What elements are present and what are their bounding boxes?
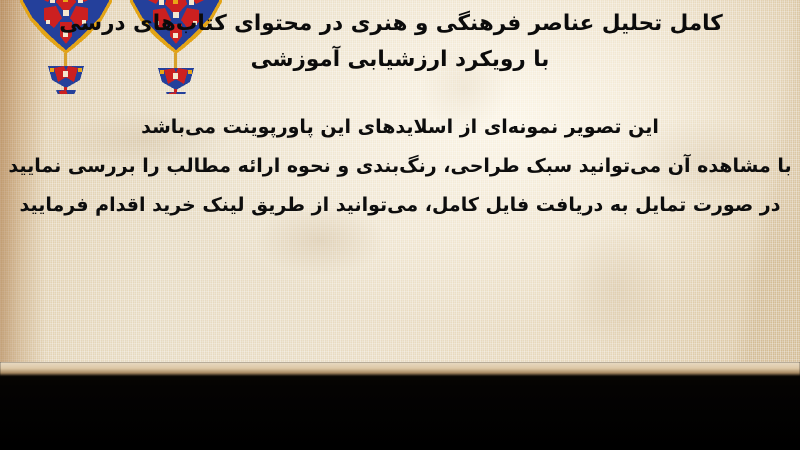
slide-title: کامل تحلیل عناصر فرهنگی و هنری در محتوای…	[0, 6, 800, 78]
slide-canvas: کامل تحلیل عناصر فرهنگی و هنری در محتوای…	[0, 0, 800, 450]
title-line-1: کامل تحلیل عناصر فرهنگی و هنری در محتوای…	[0, 6, 800, 42]
body-line-2: با مشاهده آن می‌توانید سبک طراحی، رنگ‌بن…	[0, 147, 800, 186]
title-line-2: با رویکرد ارزشیابی آموزشی	[0, 42, 800, 78]
body-line-3: در صورت تمایل به دریافت فایل کامل، می‌تو…	[0, 186, 800, 225]
slide-body-text: این تصویر نمونه‌ای از اسلایدهای این پاور…	[0, 108, 800, 225]
body-line-1: این تصویر نمونه‌ای از اسلایدهای این پاور…	[0, 108, 800, 147]
carpet-knotted-fringe	[0, 362, 800, 450]
carpet-selvedge-edge	[0, 362, 800, 376]
